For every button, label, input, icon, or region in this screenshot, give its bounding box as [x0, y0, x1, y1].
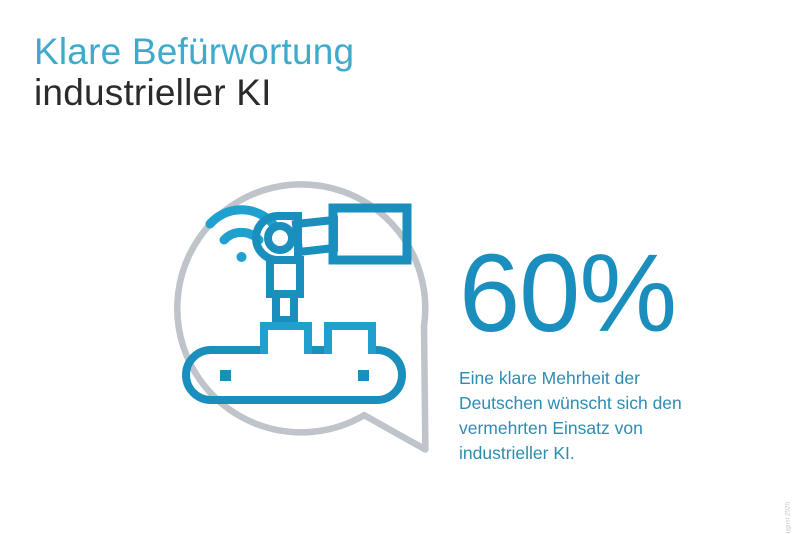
wifi-dot-icon: [237, 252, 247, 262]
page-title-line-1: Klare Befürwortung: [34, 33, 354, 70]
statistic-block: 60% Eine klare Mehrheit der Deutschen wü…: [459, 243, 759, 466]
source-credit-text: Bosch KI-Zukunftskompass 2020 – repräsen…: [785, 500, 792, 534]
page-title: Klare Befürwortung industrieller KI: [34, 33, 354, 111]
speech-bubble-icon: [168, 152, 438, 492]
statistic-value: 60%: [459, 243, 759, 344]
conveyor-belt-icon: [186, 350, 402, 400]
infographic-canvas: Klare Befürwortung industrieller KI: [0, 0, 800, 534]
source-credit: Quellen: Bosch KI-Zukunftskompass 2020 –…: [786, 500, 792, 534]
robot-arm-icon: [256, 216, 334, 338]
illustration: [168, 152, 438, 492]
screen-icon: [333, 208, 407, 260]
page-title-line-2: industrieller KI: [34, 74, 354, 111]
statistic-description: Eine klare Mehrheit der Deutschen wünsch…: [459, 366, 727, 465]
industrial-robot-icon: [186, 208, 407, 400]
